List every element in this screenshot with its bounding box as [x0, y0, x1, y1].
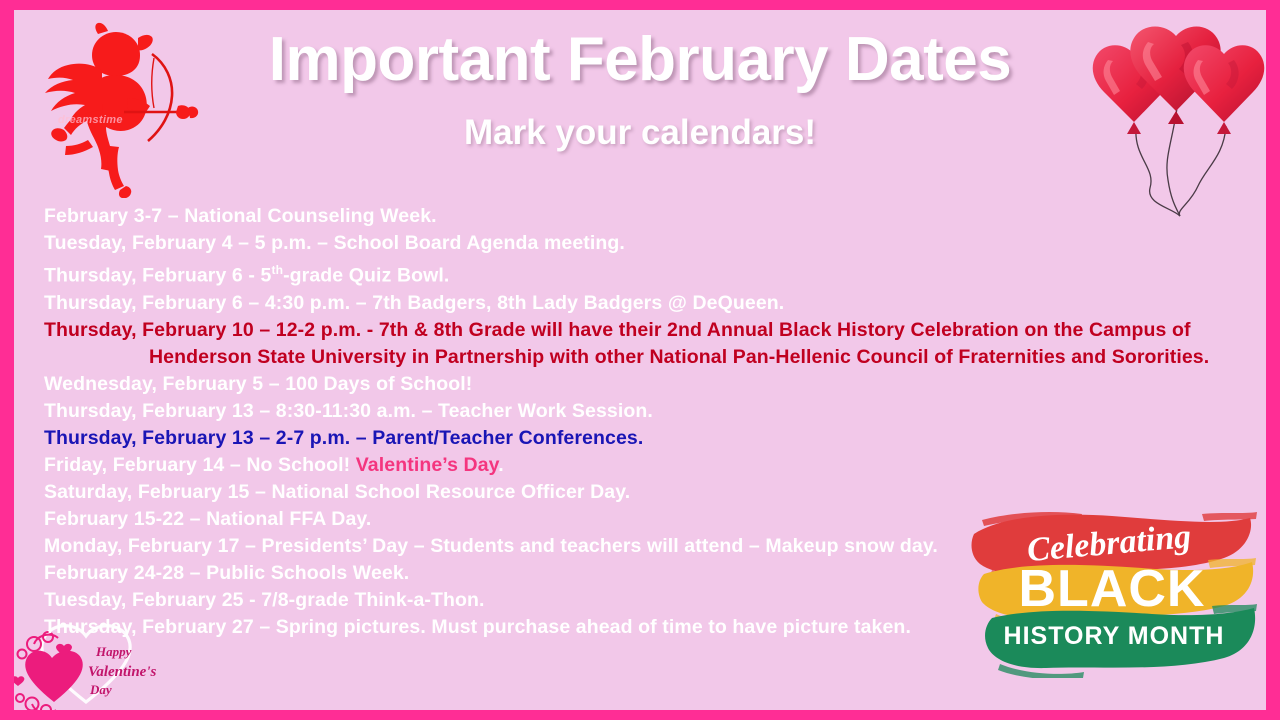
slide-frame: dreamstime	[0, 0, 1280, 720]
list-item: Tuesday, February 4 – 5 p.m. – School Bo…	[44, 230, 1244, 257]
list-item-valentines: Friday, February 14 – No School! Valenti…	[44, 452, 1244, 479]
sticker-line-1: Happy	[95, 644, 132, 659]
list-item: February 24-28 – Public Schools Week.	[44, 560, 1244, 587]
list-item: Monday, February 17 – Presidents’ Day – …	[44, 533, 1244, 560]
slide-canvas: dreamstime	[14, 10, 1266, 710]
valentines-day-highlight: Valentine’s Day	[356, 454, 498, 476]
page-title: Important February Dates	[14, 24, 1266, 95]
list-item: Tuesday, February 25 - 7/8-grade Think-a…	[44, 587, 1244, 614]
sticker-line-3: Day	[89, 682, 112, 697]
sticker-line-2: Valentine's	[88, 664, 157, 680]
list-item: Thursday, February 27 – Spring pictures.…	[44, 614, 1244, 641]
list-item-text: Thursday, February 6 - 5	[44, 265, 271, 287]
list-item-text: Friday, February 14 – No School!	[44, 454, 356, 476]
list-item: Thursday, February 13 – 8:30-11:30 a.m. …	[44, 398, 1244, 425]
list-item-black-history-cont: Henderson State University in Partnershi…	[44, 344, 1244, 371]
ordinal-suffix: th	[271, 263, 283, 277]
list-item: February 15-22 – National FFA Day.	[44, 506, 1244, 533]
list-item: Wednesday, February 5 – 100 Days of Scho…	[44, 371, 1244, 398]
page-subtitle: Mark your calendars!	[14, 113, 1266, 153]
list-item-text-after: .	[498, 454, 504, 476]
list-item: Thursday, February 6 – 4:30 p.m. – 7th B…	[44, 290, 1244, 317]
list-item: Saturday, February 15 – National School …	[44, 479, 1244, 506]
list-item-text-after: -grade Quiz Bowl.	[283, 265, 449, 287]
list-item-parent-teacher-conferences: Thursday, February 13 – 2-7 p.m. – Paren…	[44, 425, 1244, 452]
important-dates-list: February 3-7 – National Counseling Week.…	[44, 203, 1244, 641]
list-item-black-history: Thursday, February 10 – 12-2 p.m. - 7th …	[44, 317, 1244, 344]
list-item: February 3-7 – National Counseling Week.	[44, 203, 1244, 230]
list-item: Thursday, February 6 - 5th-grade Quiz Bo…	[44, 257, 1244, 290]
